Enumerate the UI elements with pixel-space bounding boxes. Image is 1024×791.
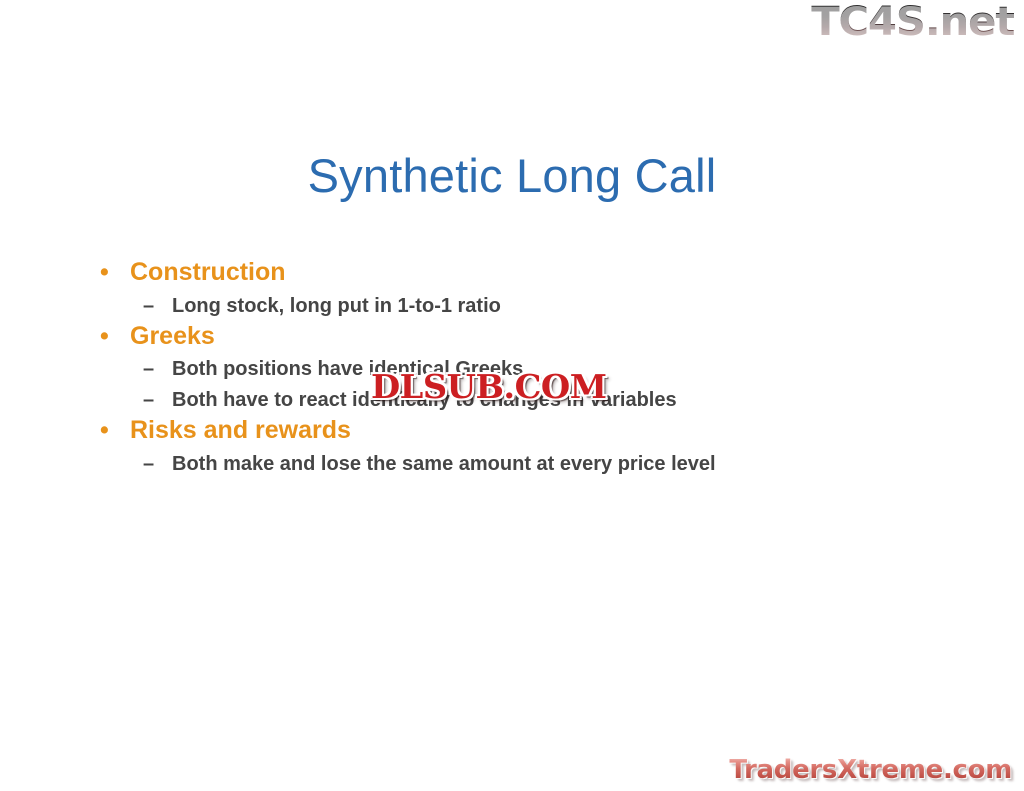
page-title: Synthetic Long Call (0, 149, 1024, 203)
bullet-risks-and-rewards: • Risks and rewards (88, 416, 728, 446)
bullet-label: Risks and rewards (130, 416, 351, 444)
slide-body-content: • Construction – Long stock, long put in… (88, 258, 728, 476)
brand-logo-tradersxtreme: TradersXtreme.com (729, 757, 1012, 783)
list-item: – Both have to react identically to chan… (88, 388, 728, 412)
list-item-label: Long stock, long put in 1-to-1 ratio (172, 294, 728, 318)
bullet-construction: • Construction (88, 258, 728, 288)
list-item-label: Both have to react identically to change… (172, 388, 728, 412)
bullet-label: Greeks (130, 322, 215, 350)
dash-icon: – (143, 452, 154, 476)
dash-icon: – (143, 357, 154, 381)
list-item-label: Both make and lose the same amount at ev… (172, 452, 728, 476)
bullet-greeks: • Greeks (88, 322, 728, 352)
list-item: – Both positions have identical Greeks (88, 357, 728, 381)
list-item-label: Both positions have identical Greeks (172, 357, 728, 381)
dash-icon: – (143, 294, 154, 318)
bullet-dot-icon: • (100, 416, 109, 446)
presentation-slide: TC4S.net Synthetic Long Call • Construct… (0, 0, 1024, 791)
list-item: – Long stock, long put in 1-to-1 ratio (88, 294, 728, 318)
site-logo-tc4s: TC4S.net (811, 2, 1014, 42)
dash-icon: – (143, 388, 154, 412)
bullet-dot-icon: • (100, 322, 109, 352)
list-item: – Both make and lose the same amount at … (88, 452, 728, 476)
bullet-dot-icon: • (100, 258, 109, 288)
bullet-label: Construction (130, 258, 286, 286)
